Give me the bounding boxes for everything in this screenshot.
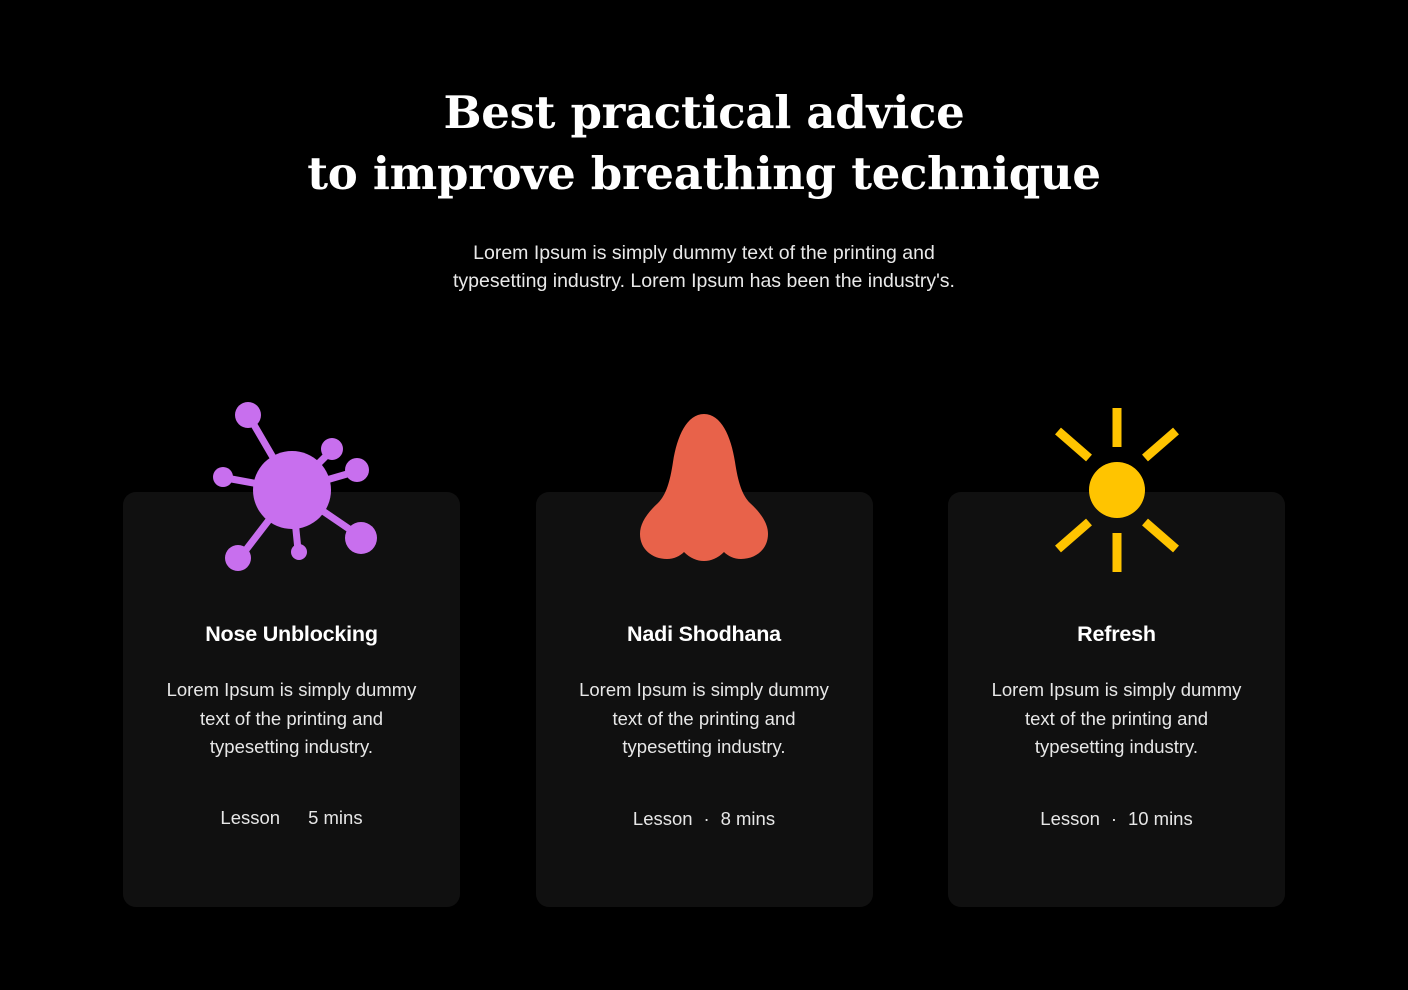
card-meta-duration: 10 mins — [1128, 807, 1193, 831]
card-nose-unblocking[interactable]: Nose Unblocking Lorem Ipsum is simply du… — [123, 492, 460, 907]
card-nadi-shodhana[interactable]: Nadi Shodhana Lorem Ipsum is simply dumm… — [536, 492, 873, 907]
card-meta: Lesson · 10 mins — [1040, 807, 1192, 831]
card-meta-separator: · — [1109, 807, 1119, 831]
sun-icon — [1027, 400, 1207, 580]
card-meta-duration: 5 mins — [308, 806, 363, 830]
card-meta: Lesson · 8 mins — [633, 807, 775, 831]
page-header: Best practical advice to improve breathi… — [0, 0, 1408, 295]
card-title: Nose Unblocking — [205, 621, 378, 647]
card-title: Nadi Shodhana — [627, 621, 781, 647]
card-meta-label: Lesson — [1040, 807, 1100, 831]
card-description: Lorem Ipsum is simply dummy text of the … — [983, 676, 1251, 762]
card-title: Refresh — [1077, 621, 1156, 647]
card-description: Lorem Ipsum is simply dummy text of the … — [570, 676, 838, 762]
card-meta-label: Lesson — [633, 807, 693, 831]
card-description: Lorem Ipsum is simply dummy text of the … — [158, 676, 426, 762]
card-refresh[interactable]: Refresh Lorem Ipsum is simply dummy text… — [948, 492, 1285, 907]
cards-row: Nose Unblocking Lorem Ipsum is simply du… — [123, 492, 1285, 907]
card-meta-duration: 8 mins — [721, 807, 776, 831]
molecule-icon — [202, 400, 382, 580]
page-title: Best practical advice to improve breathi… — [0, 82, 1408, 204]
nose-icon — [614, 400, 794, 580]
page-subtitle: Lorem Ipsum is simply dummy text of the … — [0, 239, 1408, 295]
card-meta-label: Lesson — [220, 806, 280, 830]
card-meta-separator: · — [702, 807, 712, 831]
card-meta: Lesson 5 mins — [220, 806, 362, 830]
